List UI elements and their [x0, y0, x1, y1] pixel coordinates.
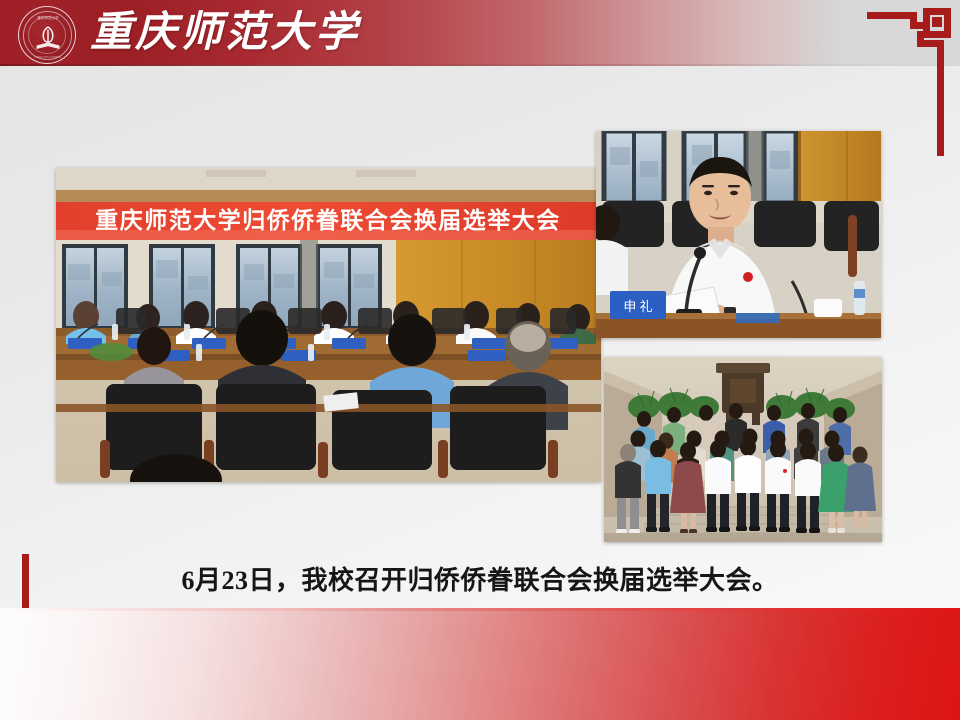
- meeting-hall-wide-photo: 重庆师范大学归侨侨眷联合会换届选举大会: [56, 168, 601, 482]
- banner-text: 重庆师范大学归侨侨眷联合会换届选举大会: [95, 207, 561, 233]
- slide-canvas: 重庆师范大学 CHONGQING NORMAL 重庆师范大学: [0, 0, 960, 720]
- meeting-hall-photo-content: 重庆师范大学归侨侨眷联合会换届选举大会: [56, 168, 601, 482]
- slide-caption-text: 6月23日，我校召开归侨侨眷联合会换届选举大会。: [0, 560, 960, 597]
- svg-text:CHONGQING NORMAL: CHONGQING NORMAL: [34, 56, 62, 59]
- university-name-title: 重庆师范大学: [90, 4, 360, 62]
- university-seal-logo: 重庆师范大学 CHONGQING NORMAL: [18, 6, 76, 64]
- caption-area: 6月23日，我校召开归侨侨眷联合会换届选举大会。: [0, 548, 960, 608]
- speaker-nameplate-text: 申 礼: [623, 299, 652, 314]
- seal-emblem-icon: 重庆师范大学 CHONGQING NORMAL: [19, 7, 77, 65]
- footer-gradient-band: [0, 608, 960, 720]
- group-photo-content: [604, 357, 882, 542]
- header-band: 重庆师范大学 CHONGQING NORMAL 重庆师范大学: [0, 0, 960, 66]
- speaker-at-podium-photo: 申 礼: [596, 131, 881, 338]
- svg-text:重庆师范大学: 重庆师范大学: [37, 15, 59, 20]
- speaker-photo-content: 申 礼: [596, 131, 881, 338]
- group-photo: [604, 357, 882, 542]
